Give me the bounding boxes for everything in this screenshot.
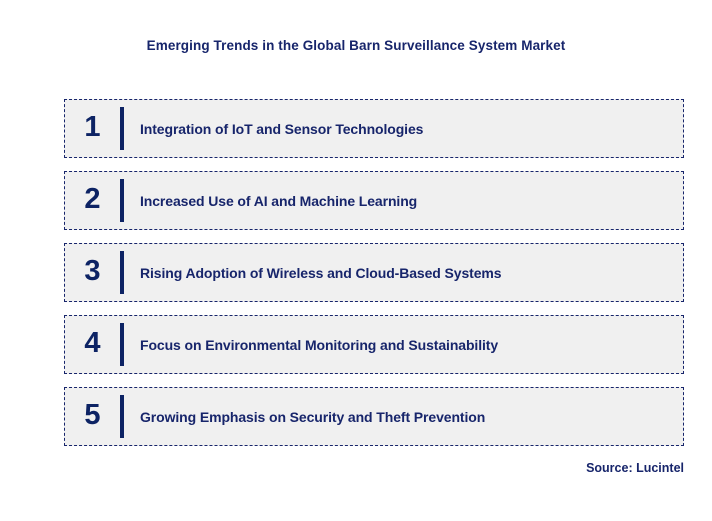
source-attribution: Source: Lucintel (586, 461, 684, 475)
list-item: 5 Growing Emphasis on Security and Theft… (64, 387, 684, 446)
trends-infographic: Emerging Trends in the Global Barn Surve… (0, 0, 712, 521)
trend-label: Integration of IoT and Sensor Technologi… (124, 121, 683, 137)
trend-label: Rising Adoption of Wireless and Cloud-Ba… (124, 265, 683, 281)
trend-list: 1 Integration of IoT and Sensor Technolo… (64, 99, 684, 459)
trend-label: Focus on Environmental Monitoring and Su… (124, 337, 683, 353)
trend-label: Growing Emphasis on Security and Theft P… (124, 409, 683, 425)
trend-number: 2 (65, 185, 120, 216)
trend-number: 4 (65, 329, 120, 360)
trend-label: Increased Use of AI and Machine Learning (124, 193, 683, 209)
list-item: 3 Rising Adoption of Wireless and Cloud-… (64, 243, 684, 302)
list-item: 4 Focus on Environmental Monitoring and … (64, 315, 684, 374)
list-item: 2 Increased Use of AI and Machine Learni… (64, 171, 684, 230)
list-item: 1 Integration of IoT and Sensor Technolo… (64, 99, 684, 158)
trend-number: 3 (65, 257, 120, 288)
page-title: Emerging Trends in the Global Barn Surve… (0, 38, 712, 53)
trend-number: 1 (65, 113, 120, 144)
trend-number: 5 (65, 401, 120, 432)
